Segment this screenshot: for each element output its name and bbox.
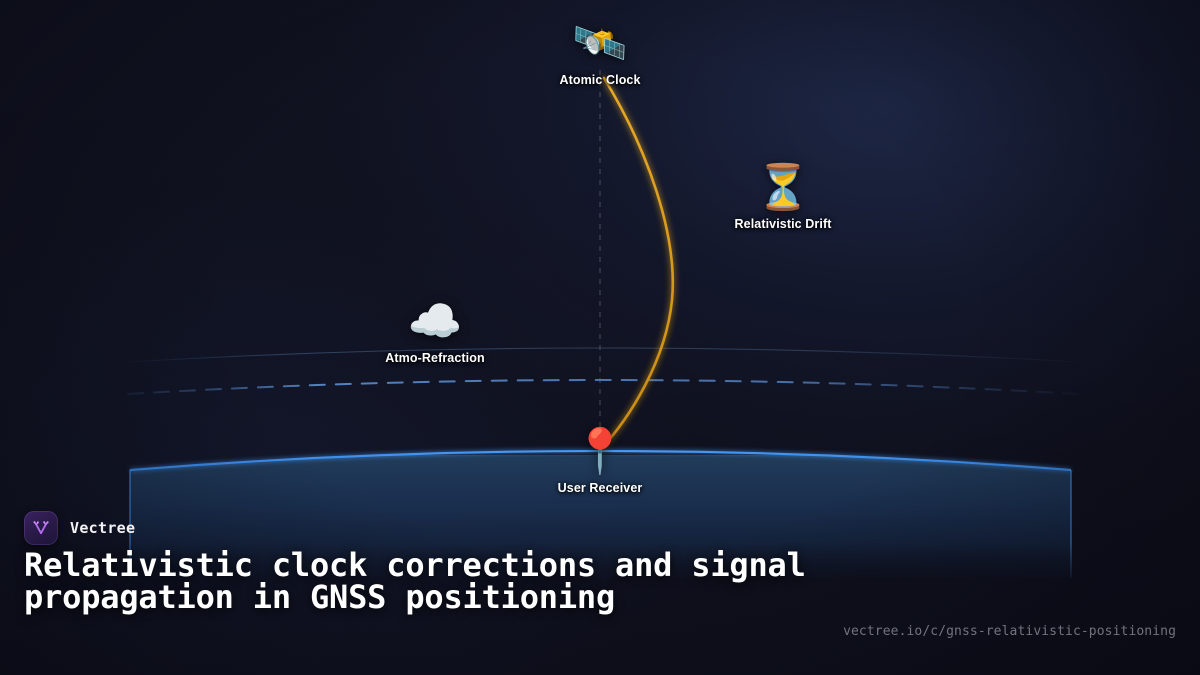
upper-atmosphere-line	[128, 348, 1078, 362]
vectree-logo	[24, 511, 58, 545]
node-label-user-receiver: User Receiver	[558, 481, 643, 495]
node-label-atomic-clock: Atomic Clock	[559, 73, 640, 87]
refraction-layer-line	[128, 380, 1078, 394]
node-label-atmo-refraction: Atmo-Refraction	[385, 351, 484, 365]
brand-row: Vectree	[24, 511, 135, 545]
cloud-icon: ☁️	[408, 300, 463, 344]
satellite-icon: 🛰️	[573, 22, 628, 66]
signal-propagation-arc	[600, 78, 673, 450]
vectree-mark-icon	[31, 518, 51, 538]
node-atomic-clock[interactable]: 🛰️ Atomic Clock	[559, 22, 640, 87]
node-label-relativistic-drift: Relativistic Drift	[735, 217, 832, 231]
footer-url: vectree.io/c/gnss-relativistic-positioni…	[843, 624, 1176, 639]
infographic-canvas: 🛰️ Atomic Clock ⏳ Relativistic Drift ☁️ …	[0, 0, 1200, 675]
node-relativistic-drift[interactable]: ⏳ Relativistic Drift	[735, 166, 832, 231]
node-atmo-refraction[interactable]: ☁️ Atmo-Refraction	[385, 300, 484, 365]
hourglass-icon: ⏳	[756, 166, 811, 210]
brand-name: Vectree	[70, 519, 135, 537]
page-title: Relativistic clock corrections and signa…	[24, 549, 824, 613]
pin-icon: 📍	[573, 430, 628, 474]
node-user-receiver[interactable]: 📍 User Receiver	[558, 430, 643, 495]
